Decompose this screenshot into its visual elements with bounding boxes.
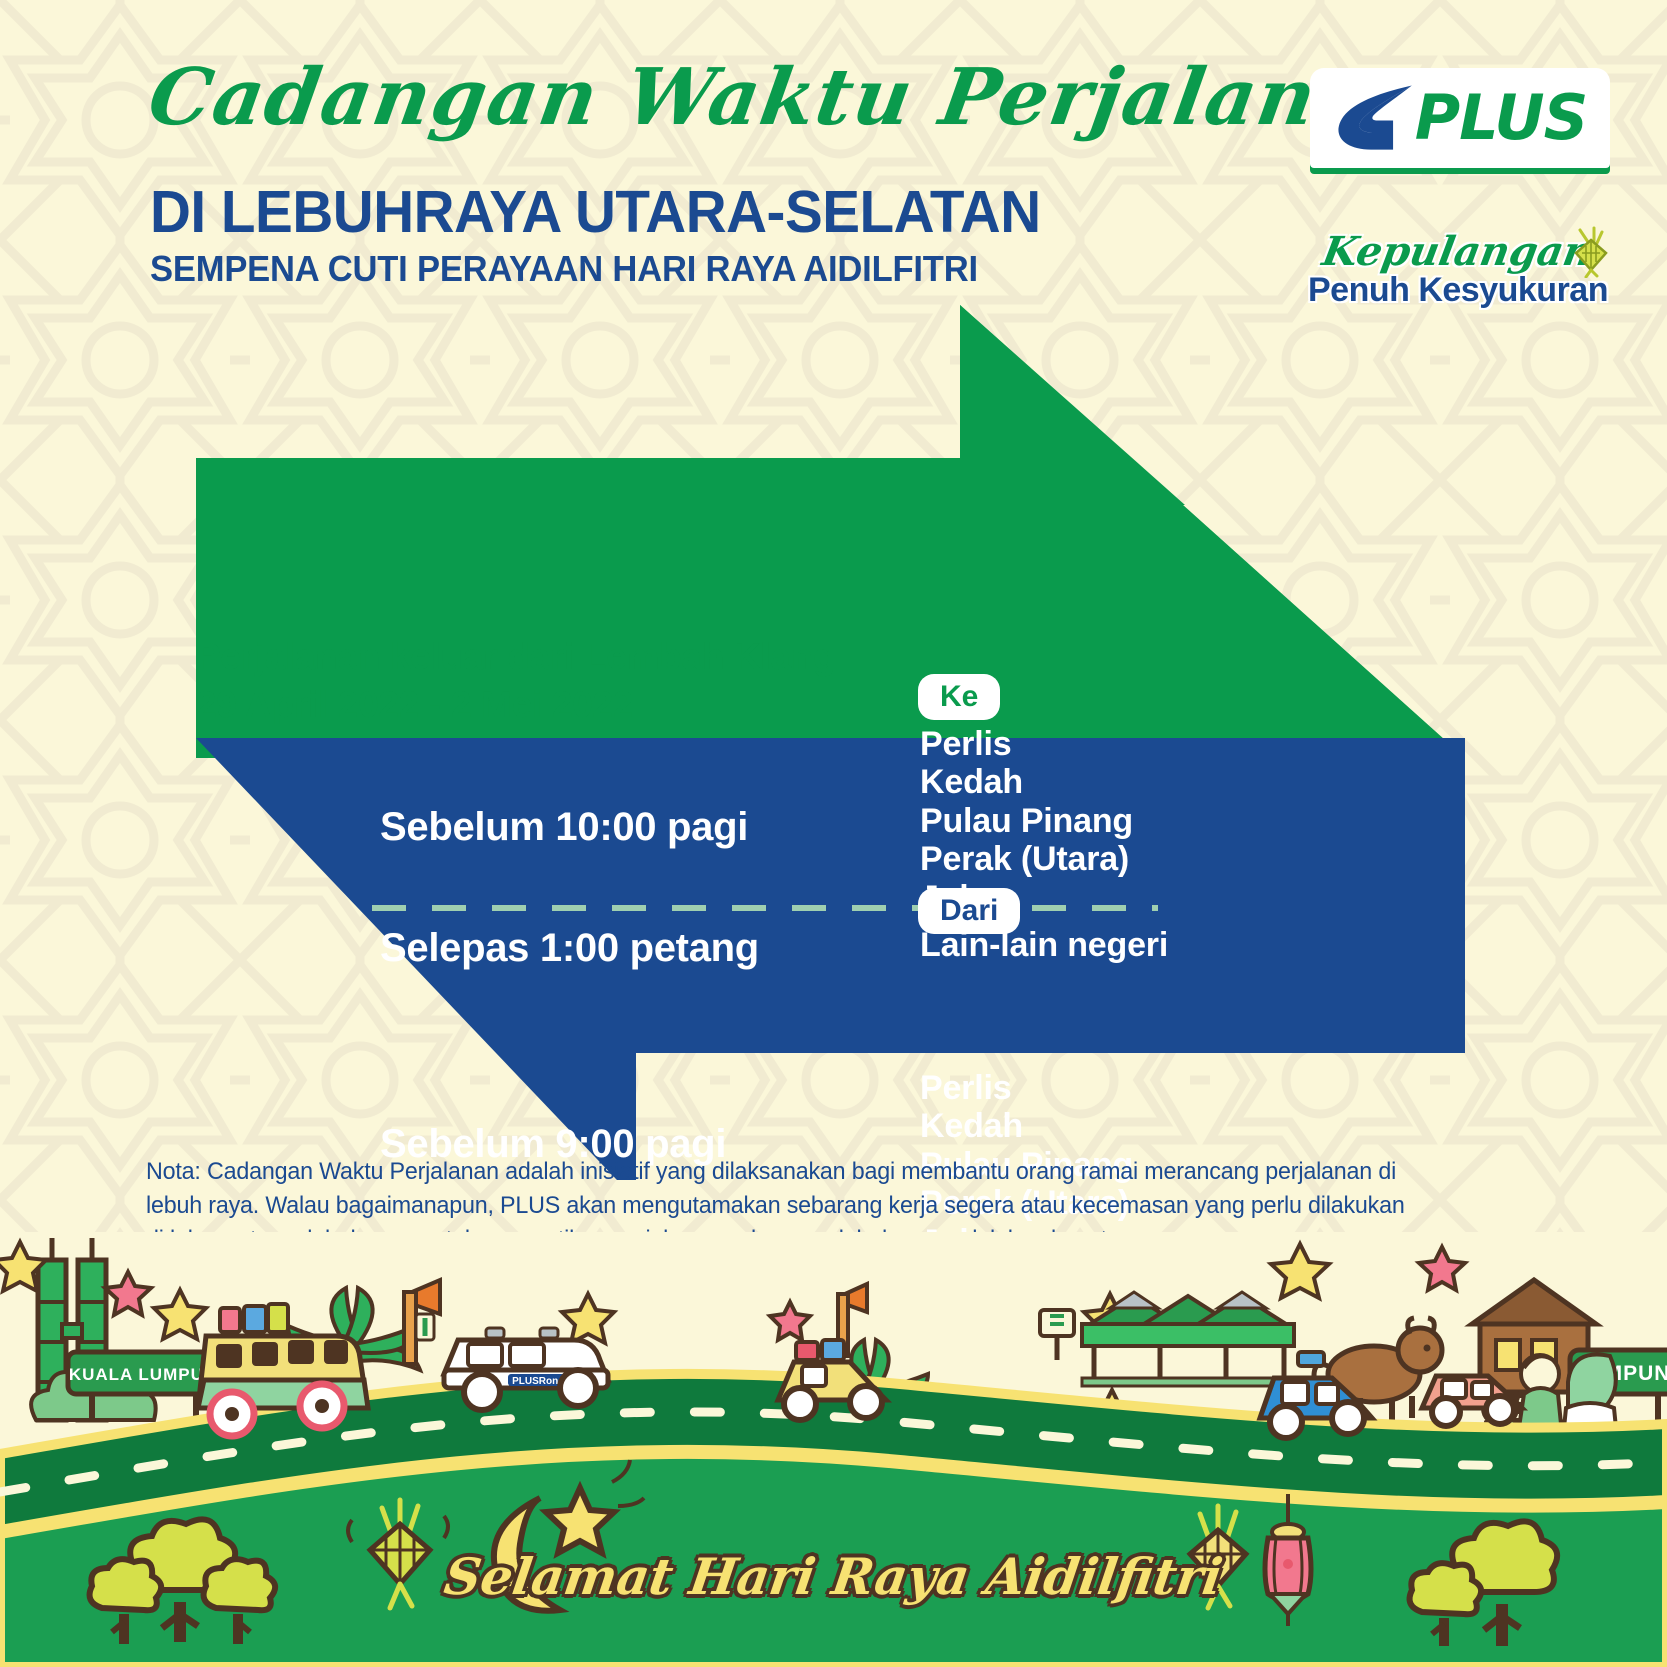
panel-divider — [372, 905, 1158, 911]
bottom-illustration: KUALA LUMPUR — [0, 1232, 1667, 1667]
plus-wordmark: PLUS — [1415, 87, 1588, 149]
state-item: Perak (Utara) — [920, 840, 1133, 878]
state-item: Kedah — [920, 1107, 1168, 1145]
ketupat-icon — [1568, 226, 1614, 278]
plus-swoosh-icon — [1333, 83, 1419, 153]
svg-text:KUALA LUMPUR: KUALA LUMPUR — [69, 1365, 217, 1384]
state-item: Pulau Pinang — [920, 802, 1133, 840]
poster-header: Cadangan Waktu Perjalanan DI LEBUHRAYA U… — [0, 0, 1667, 320]
state-item: Perlis — [920, 1069, 1168, 1107]
outbound-direction-chip: Ke — [918, 674, 1000, 720]
outbound-heading-line1: Perjalanan keluar dari Lembah Klang — [196, 636, 835, 678]
schedule-panels: Perjalanan keluar dari Lembah Klang 29 A… — [0, 280, 1667, 1180]
tagline-line1: Kepulangan — [1319, 228, 1597, 275]
outbound-time-early: Sebelum 10:00 pagi — [380, 805, 748, 850]
infographic-poster: Cadangan Waktu Perjalanan DI LEBUHRAYA U… — [0, 0, 1667, 1667]
inbound-direction-chip: Dari — [918, 888, 1020, 934]
state-item: Kedah — [920, 763, 1133, 801]
plus-logo: PLUS — [1310, 68, 1610, 168]
page-title-script: Cadangan Waktu Perjalanan — [143, 52, 1434, 143]
outbound-heading-line2: 29 April 2022 - 2 Mei 2022 — [196, 684, 633, 726]
state-item: Perlis — [920, 725, 1133, 763]
page-title-main: DI LEBUHRAYA UTARA-SELATAN — [150, 178, 1041, 246]
outbound-time-late: Selepas 1:00 petang — [380, 926, 759, 971]
